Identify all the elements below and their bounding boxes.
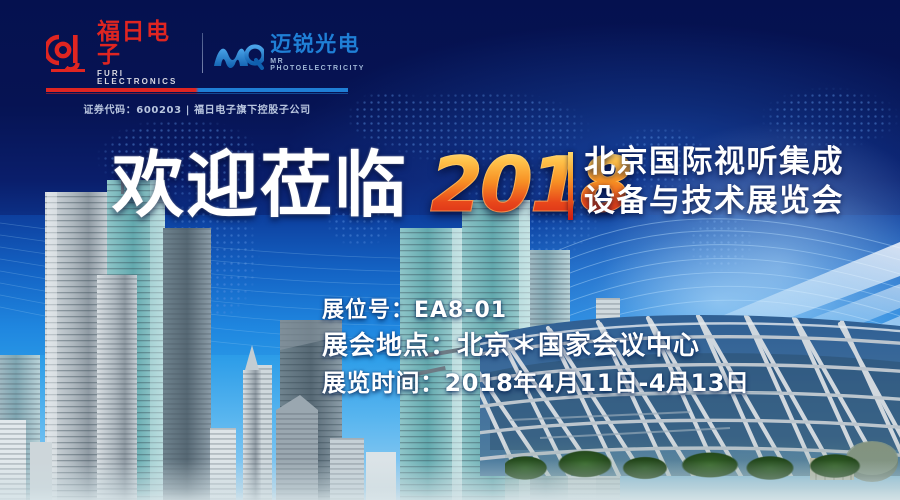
furi-logo-icon	[46, 31, 90, 75]
logo-row: 福日电子 FURI ELECTRONICS 迈锐光电 MR PHOTOELECT…	[46, 22, 366, 84]
logo-underline	[46, 88, 348, 92]
booth-number: 展位号：EA8-01	[322, 296, 842, 326]
mr-logo-icon	[212, 36, 264, 70]
furi-text-block: 福日电子 FURI ELECTRONICS	[97, 21, 193, 86]
event-name-line2: 设备与技术展览会	[584, 182, 844, 221]
brand-logo-bar: 福日电子 FURI ELECTRONICS 迈锐光电 MR PHOTOELECT…	[46, 22, 366, 114]
event-info-block: 展位号：EA8-01 展会地点：北京＊国家会议中心 展览时间：2018年4月11…	[322, 296, 842, 400]
date-line: 展览时间：2018年4月11日-4月13日	[322, 366, 842, 400]
venue-line: 展会地点：北京＊国家会议中心	[322, 326, 842, 366]
mr-text-block: 迈锐光电 MR PHOTOELECTRICITY	[270, 34, 366, 72]
event-name: 北京国际视听集成 设备与技术展览会	[584, 143, 844, 221]
exhibition-banner: 福日电子 FURI ELECTRONICS 迈锐光电 MR PHOTOELECT…	[0, 0, 900, 500]
logo-underline-thin	[46, 93, 348, 94]
event-name-line1: 北京国际视听集成	[584, 143, 844, 182]
stock-code-note: 证券代码：600203 | 福日电子旗下控股子公司	[46, 101, 348, 116]
headline-block: 欢迎莅临 2018 北京国际视听集成 设备与技术展览会	[0, 140, 900, 232]
mr-name-cn: 迈锐光电	[270, 34, 366, 55]
gold-red-bar-icon	[568, 152, 573, 220]
ground-fade	[0, 460, 900, 500]
mr-name-en: MR PHOTOELECTRICITY	[270, 58, 366, 72]
vertical-divider-icon	[202, 33, 204, 73]
furi-name-cn: 福日电子	[97, 21, 193, 67]
furi-name-en: FURI ELECTRONICS	[97, 70, 193, 86]
welcome-text: 欢迎莅临	[112, 140, 408, 230]
